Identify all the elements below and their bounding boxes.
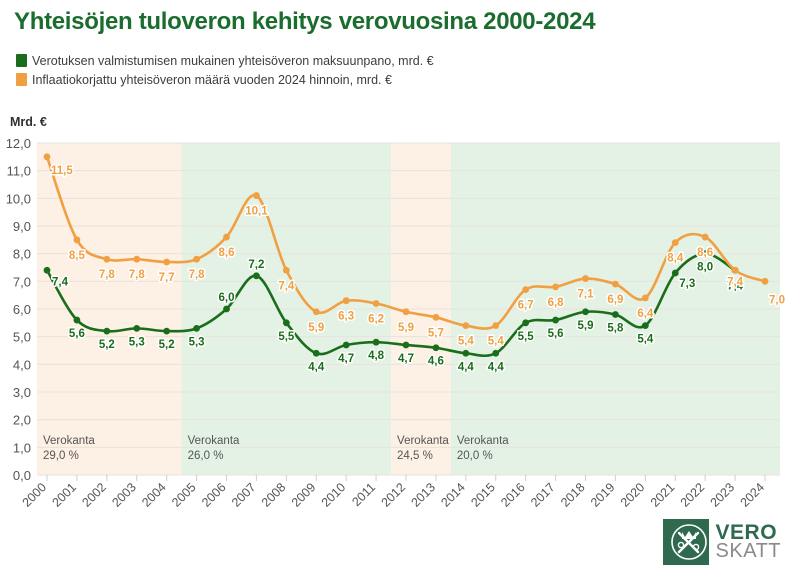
vero-crest-icon (663, 519, 709, 565)
x-axis-tick-label: 2002 (79, 480, 109, 510)
data-point-label: 4,4 (458, 361, 475, 373)
data-point-label: 5,2 (159, 339, 175, 351)
x-axis-tick-label: 2016 (498, 480, 528, 510)
data-point-label: 4,8 (368, 350, 385, 362)
data-point-label: 8,6 (697, 247, 713, 259)
data-point[interactable] (163, 259, 170, 266)
data-point[interactable] (403, 342, 410, 349)
data-point-label: 4,7 (398, 353, 414, 365)
x-axis-tick-label: 2009 (289, 480, 319, 510)
data-point-label: 6,9 (607, 294, 623, 306)
data-point[interactable] (193, 325, 200, 332)
y-axis-tick-label: 6,0 (13, 302, 31, 317)
x-axis-tick-label: 2014 (438, 480, 468, 510)
data-point-label: 7,4 (727, 276, 744, 288)
data-point[interactable] (103, 256, 110, 263)
data-point-label: 5,8 (607, 323, 624, 335)
x-axis-tick-label: 2018 (558, 480, 588, 510)
data-point[interactable] (343, 342, 350, 349)
data-point[interactable] (44, 153, 51, 160)
data-point-label: 5,3 (189, 336, 205, 348)
data-point[interactable] (522, 286, 529, 293)
data-point[interactable] (373, 339, 380, 346)
data-point[interactable] (612, 311, 619, 318)
y-axis-tick-label: 7,0 (13, 274, 31, 289)
data-point-label: 5,6 (548, 328, 564, 340)
data-point-label: 6,3 (338, 311, 354, 323)
data-point[interactable] (732, 267, 739, 274)
y-axis-tick-label: 12,0 (6, 136, 31, 151)
band-label-title: Verokanta (457, 435, 509, 447)
data-point[interactable] (672, 239, 679, 246)
data-point-label: 4,7 (338, 353, 354, 365)
data-point-label: 5,2 (99, 339, 115, 351)
data-point-label: 7,4 (278, 280, 295, 292)
data-point[interactable] (462, 322, 469, 329)
data-point[interactable] (762, 278, 769, 285)
data-point[interactable] (552, 317, 559, 324)
data-point[interactable] (492, 322, 499, 329)
x-axis-tick-label: 2003 (109, 480, 139, 510)
data-point-label: 8,6 (219, 247, 235, 259)
band-label-title: Verokanta (43, 435, 95, 447)
x-axis-tick-label: 2023 (708, 480, 738, 510)
data-point-label: 8,0 (697, 262, 713, 274)
data-point[interactable] (74, 317, 81, 324)
x-axis-tick-label: 2017 (528, 480, 558, 510)
data-point[interactable] (522, 319, 529, 326)
data-point-label: 6,7 (518, 300, 534, 312)
y-axis-tick-label: 0,0 (13, 468, 31, 483)
data-point-label: 8,4 (667, 253, 684, 265)
data-point-label: 7,0 (769, 294, 785, 306)
data-point[interactable] (642, 295, 649, 302)
data-point[interactable] (193, 256, 200, 263)
data-point[interactable] (283, 267, 290, 274)
data-point[interactable] (552, 283, 559, 290)
x-axis-tick-label: 2024 (738, 480, 768, 510)
band-label-rate: 29,0 % (43, 450, 79, 462)
x-axis-tick-label: 2012 (379, 480, 409, 510)
data-point[interactable] (433, 344, 440, 351)
data-point-label: 5,5 (518, 331, 535, 343)
data-point-label: 5,6 (69, 328, 85, 340)
y-axis-tick-label: 11,0 (7, 164, 31, 179)
data-point[interactable] (642, 322, 649, 329)
data-point[interactable] (44, 267, 51, 274)
data-point-label: 8,5 (69, 250, 86, 262)
data-point-label: 7,1 (578, 289, 595, 301)
data-point[interactable] (373, 300, 380, 307)
data-point[interactable] (133, 325, 140, 332)
data-point-label: 5,9 (578, 320, 594, 332)
data-point-label: 6,0 (219, 292, 235, 304)
data-point-label: 7,8 (189, 269, 206, 281)
data-point-label: 5,4 (637, 334, 654, 346)
x-axis-tick-label: 2013 (408, 480, 438, 510)
data-point-label: 7,4 (52, 276, 69, 288)
data-point-label: 6,8 (548, 297, 565, 309)
x-axis-tick-label: 2020 (618, 480, 648, 510)
x-axis-tick-label: 2005 (169, 480, 199, 510)
data-point[interactable] (582, 275, 589, 282)
data-point[interactable] (283, 319, 290, 326)
data-point[interactable] (103, 328, 110, 335)
data-point-label: 11,5 (51, 165, 73, 177)
y-axis-tick-label: 2,0 (13, 413, 31, 428)
data-point[interactable] (672, 270, 679, 277)
data-point[interactable] (462, 350, 469, 357)
data-point[interactable] (74, 236, 81, 243)
x-axis-tick-label: 2022 (678, 480, 708, 510)
data-point-label: 5,3 (129, 336, 145, 348)
data-point[interactable] (253, 192, 260, 199)
y-axis-tick-label: 10,0 (6, 191, 31, 206)
data-point-label: 5,4 (458, 336, 475, 348)
data-point-label: 4,4 (488, 361, 505, 373)
band-label-title: Verokanta (397, 435, 449, 447)
logo-wordmark: VERO SKATT (716, 523, 781, 562)
band-label-rate: 24,5 % (397, 450, 433, 462)
band-label-title: Verokanta (188, 435, 240, 447)
data-point[interactable] (403, 308, 410, 315)
data-point[interactable] (163, 328, 170, 335)
line-chart: Verokanta29,0 %Verokanta26,0 %Verokanta2… (0, 0, 795, 575)
data-point-label: 7,2 (248, 259, 264, 271)
x-axis-tick-label: 2004 (139, 480, 169, 510)
band-label-rate: 20,0 % (457, 450, 493, 462)
y-axis-tick-label: 1,0 (13, 440, 31, 455)
data-point[interactable] (223, 234, 230, 241)
data-point[interactable] (223, 306, 230, 313)
x-axis-tick-label: 2015 (468, 480, 498, 510)
y-axis-tick-label: 9,0 (13, 219, 31, 234)
data-point-label: 5,9 (308, 322, 324, 334)
crest-glyph (663, 519, 709, 565)
x-axis-tick-label: 2000 (20, 480, 50, 510)
logo-vero-text: VERO (716, 523, 781, 543)
data-point-label: 7,8 (129, 269, 146, 281)
data-point[interactable] (492, 350, 499, 357)
x-axis-tick-label: 2010 (319, 480, 349, 510)
data-point-label: 7,3 (679, 278, 695, 290)
x-axis-tick-label: 2019 (588, 480, 618, 510)
logo-skatt-text: SKATT (716, 542, 781, 561)
x-axis-tick-label: 2007 (229, 480, 259, 510)
data-point[interactable] (612, 281, 619, 288)
data-point-label: 6,2 (368, 313, 384, 325)
y-axis-tick-label: 8,0 (13, 247, 31, 262)
data-point-label: 4,6 (428, 356, 444, 368)
vero-skatt-logo: VERO SKATT (663, 519, 781, 565)
x-axis-tick-label: 2001 (49, 480, 79, 510)
y-axis-tick-label: 3,0 (13, 385, 31, 400)
data-point[interactable] (582, 308, 589, 315)
data-point[interactable] (313, 308, 320, 315)
data-point[interactable] (702, 234, 709, 241)
x-axis-tick-label: 2008 (259, 480, 289, 510)
y-axis-tick-label: 5,0 (13, 330, 31, 345)
x-axis-tick-label: 2006 (199, 480, 229, 510)
data-point-label: 5,5 (278, 331, 295, 343)
band-label-rate: 26,0 % (188, 450, 224, 462)
data-point[interactable] (313, 350, 320, 357)
data-point-label: 7,7 (159, 272, 175, 284)
data-point-label: 10,1 (245, 206, 268, 218)
data-point-label: 7,8 (99, 269, 116, 281)
y-axis-tick-label: 4,0 (13, 357, 31, 372)
data-point-label: 5,4 (488, 336, 505, 348)
data-point[interactable] (253, 272, 260, 279)
data-point[interactable] (133, 256, 140, 263)
data-point[interactable] (343, 297, 350, 304)
data-point-label: 5,7 (428, 327, 444, 339)
data-point[interactable] (433, 314, 440, 321)
data-point-label: 6,4 (637, 308, 654, 320)
x-axis-tick-label: 2021 (648, 480, 678, 510)
x-axis-tick-label: 2011 (349, 480, 378, 509)
data-point-label: 5,9 (398, 322, 414, 334)
data-point-label: 4,4 (308, 361, 325, 373)
